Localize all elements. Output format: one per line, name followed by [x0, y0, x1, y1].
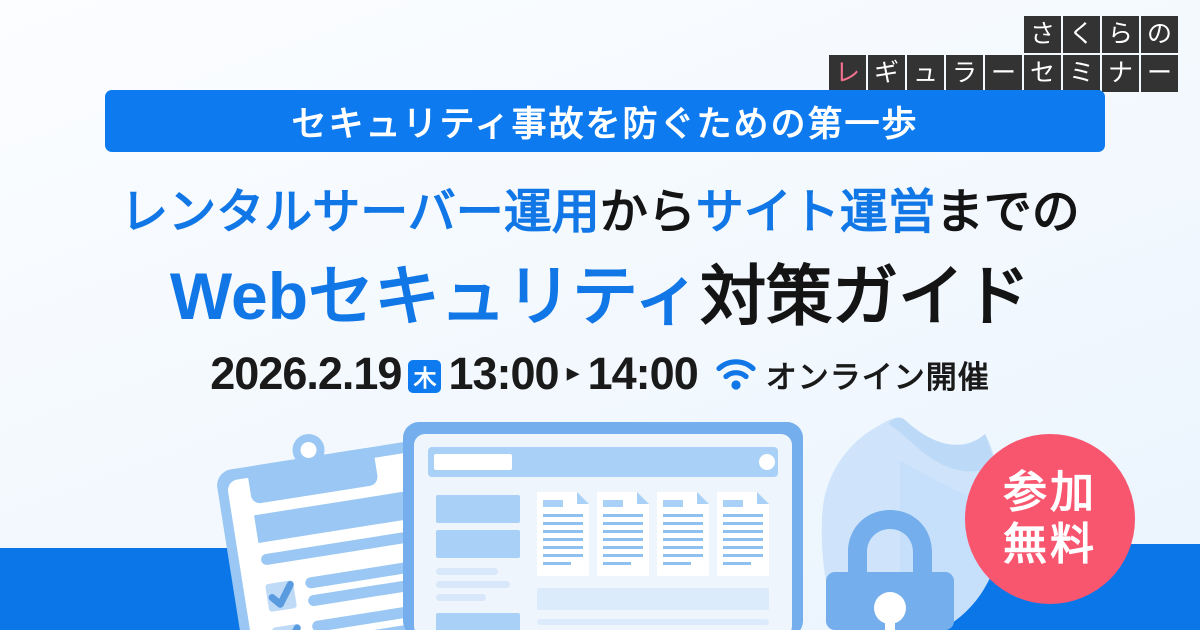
logo-char: さ	[1024, 16, 1061, 53]
sakura-regular-seminar-logo: さ く ら の レ ギ ュ ラ ー セ ミ ナ ー	[829, 16, 1178, 94]
time-separator-icon: ▸	[567, 357, 580, 388]
title-line-2-seg-1: Webセキュリティ	[170, 259, 700, 333]
logo-char: ら	[1102, 16, 1139, 53]
wifi-icon	[716, 359, 756, 395]
day-of-week-badge: 木	[408, 360, 441, 393]
title-line-1-seg-3: サイト運営	[696, 186, 936, 239]
event-start-time: 13:00	[448, 348, 558, 400]
free-badge-line-1: 参加	[1003, 467, 1097, 519]
logo-char: ー	[985, 55, 1022, 92]
title-line-1-seg-1: レンタルサーバー運用	[120, 186, 600, 239]
title-line-1-seg-2: から	[600, 186, 696, 239]
event-format-label: オンライン開催	[766, 352, 990, 397]
logo-row-2: レ ギ ュ ラ ー セ ミ ナ ー	[829, 55, 1178, 92]
logo-row-1: さ く ら の	[829, 16, 1178, 53]
event-date-line: 2026.2.19 木 13:00 ▸ 14:00 オンライン開催	[0, 348, 1200, 400]
free-admission-badge: 参加 無料	[965, 434, 1135, 604]
event-date: 2026.2.19	[210, 348, 401, 400]
title-line-1: レンタルサーバー運用からサイト運営までの	[0, 172, 1200, 242]
logo-char: く	[1063, 16, 1100, 53]
title-line-1-seg-4: までの	[936, 186, 1080, 239]
logo-char: ラ	[946, 55, 983, 92]
logo-char: ギ	[868, 55, 905, 92]
title-line-2-seg-2: 対策ガイド	[700, 259, 1030, 333]
browser-window-illustration	[403, 422, 803, 630]
logo-char: ー	[1141, 55, 1178, 92]
event-end-time: 14:00	[588, 348, 698, 400]
free-badge-line-2: 無料	[1003, 519, 1097, 571]
logo-char: ュ	[907, 55, 944, 92]
logo-char: レ	[829, 55, 866, 92]
logo-char: ナ	[1102, 55, 1139, 92]
logo-char: セ	[1024, 55, 1061, 92]
seminar-banner: さ く ら の レ ギ ュ ラ ー セ ミ ナ ー セキュリティ事故を防ぐための…	[0, 0, 1200, 630]
logo-char: ミ	[1063, 55, 1100, 92]
subtitle-banner: セキュリティ事故を防ぐための第一歩	[105, 90, 1105, 152]
title-line-2: Webセキュリティ対策ガイド	[0, 243, 1200, 339]
logo-char: の	[1141, 16, 1178, 53]
subtitle-text: セキュリティ事故を防ぐための第一歩	[292, 96, 919, 147]
